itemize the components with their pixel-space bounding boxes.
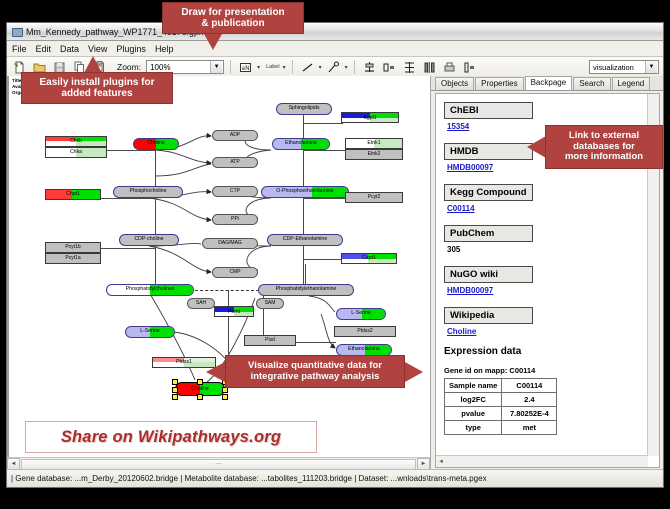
selection-handle-w[interactable]	[172, 387, 178, 393]
ope-up-half	[312, 187, 348, 197]
tab-objects[interactable]: Objects	[435, 77, 474, 90]
edge-sphingo-etn	[303, 115, 304, 138]
table-row: log2FC 2.4	[445, 393, 557, 407]
edge-choline-phosphocholine	[155, 150, 156, 186]
menu-item-file[interactable]: File	[12, 44, 27, 54]
callout-arrow-down-top	[204, 34, 222, 50]
line-icon[interactable]	[299, 59, 316, 76]
svg-text:aN: aN	[242, 64, 250, 71]
db-link-wikipedia[interactable]: Choline	[447, 327, 648, 336]
db-header-nugo: NuGO wiki	[444, 266, 533, 283]
metabolite-o-phosphoethanolamine[interactable]: O-Phosphoethanolamine	[261, 186, 349, 198]
cell-key-type: type	[445, 421, 502, 435]
cept1-lightgreen	[368, 259, 396, 263]
callout-draw-presentation: Draw for presentation & publication	[162, 2, 304, 34]
label-caret[interactable]: ▾	[283, 64, 286, 71]
etnk1-right-half	[374, 139, 402, 148]
visualization-value: visualization	[593, 63, 634, 72]
tab-backpage[interactable]: Backpage	[525, 76, 573, 90]
edge-pe-up	[305, 264, 306, 284]
gene-pcyt1a[interactable]: Pcyt1a	[45, 253, 101, 264]
callout-external-links: Link to external databases for more info…	[545, 125, 663, 169]
ethanolamine-right-up-half	[365, 345, 391, 355]
cell-key-log2fc: log2FC	[445, 393, 502, 407]
cell-key-pvalue: pvalue	[445, 407, 502, 421]
edge-pcyt2-branch	[303, 198, 347, 199]
pathway-canvas-area: Title: Availability: Organism:	[7, 76, 431, 470]
cofactor-atp[interactable]: ATP	[212, 157, 258, 168]
metabolite-choline-top[interactable]: Choline	[133, 138, 179, 150]
db-link-nugo[interactable]: HMDB00097	[447, 286, 648, 295]
edge-chk-branch	[107, 150, 155, 151]
share-text: Share on Wikipathways.org	[61, 428, 281, 447]
choline-selected-up-half	[200, 383, 224, 395]
lserine-left-up-half	[150, 327, 174, 337]
db-header-hmdb: HMDB	[444, 143, 533, 160]
gene-etnk1[interactable]: Etnk1	[345, 138, 403, 149]
table-row: type met	[445, 421, 557, 435]
cell-value-sample-name: C00114	[502, 379, 557, 393]
callout-arrow-up-plugins	[84, 56, 102, 73]
cofactor-ctp[interactable]: CTP	[212, 186, 258, 197]
menu-item-edit[interactable]: Edit	[36, 44, 52, 54]
cofactor-sah[interactable]: SAH	[187, 298, 215, 309]
cofactor-ppi[interactable]: PPi	[212, 214, 258, 225]
gene-sgpl1[interactable]: Sgpl1	[341, 112, 399, 123]
pemt-lightgreen	[234, 312, 253, 317]
callout-install-plugins: Easily install plugins for added feature…	[21, 72, 173, 104]
toolbar-separator-2	[292, 60, 293, 74]
selection-handle-se[interactable]	[222, 394, 228, 400]
gene-id-label: Gene id on mapp: C00114	[444, 366, 648, 375]
cell-value-type: met	[502, 421, 557, 435]
cofactor-adp[interactable]: ADP	[212, 130, 258, 141]
metabolite-phosphatidylethanolamine[interactable]: Phosphatidylethanolamine	[258, 284, 354, 296]
edge-ptdss2-branch	[294, 342, 336, 343]
panel-scroll-left-icon[interactable]: ◄	[436, 459, 444, 465]
db-header-chebi: ChEBI	[444, 102, 533, 119]
panel-horizontal-scrollbar[interactable]: ◄	[436, 455, 648, 467]
selection-handle-sw[interactable]	[172, 394, 178, 400]
edge-etnk-branch	[303, 150, 347, 151]
cell-value-pvalue: 7.80252E-4	[502, 407, 557, 421]
metabolite-sphingolipids[interactable]: Sphingolipids	[276, 103, 332, 115]
stack-icon[interactable]	[401, 59, 418, 76]
lserine-right-up-half	[362, 309, 385, 319]
cofactor-dag-mag[interactable]: DAG/MAG	[202, 238, 258, 249]
tab-properties[interactable]: Properties	[475, 77, 523, 90]
edge-pemt-stem	[228, 290, 229, 306]
screenshot-root: Mm_Kennedy_pathway_WP1771_45176.gpml Fil…	[0, 0, 670, 509]
zoom-value: 100%	[150, 63, 170, 72]
distribute-icon[interactable]	[421, 59, 438, 76]
edge-etn-pethn	[303, 150, 304, 186]
callout-share-wikipathways: Share on Wikipathways.org	[25, 421, 317, 453]
edge-phosphocholine-cdpcholine	[155, 198, 156, 234]
selection-handle-nw[interactable]	[172, 379, 178, 385]
callout-visualize-data: Visualize quantitative data for integrat…	[225, 355, 405, 388]
edge-pcyt1-branch	[101, 248, 155, 249]
app-icon	[11, 26, 22, 37]
edge-cdpcholine-pc	[155, 246, 156, 284]
db-header-kegg: Kegg Compound	[444, 184, 533, 201]
metabolite-l-serine-right[interactable]: L-Serine	[336, 308, 386, 320]
menu-item-view[interactable]: View	[88, 44, 107, 54]
side-panel-tabs: Objects Properties Backpage Search Legen…	[431, 76, 663, 91]
metabolite-cdp-ethanolamine[interactable]: CDP-Ethanolamine	[267, 234, 343, 246]
edge-chpt1-branch	[101, 198, 155, 199]
scroll-thumb[interactable]: ⋯	[21, 459, 416, 470]
gene-ptdss2[interactable]: Ptdss2	[334, 326, 396, 337]
sgpl1-blue	[342, 113, 370, 118]
ptdss1-lower-left	[153, 362, 184, 367]
chkb-lower-left	[46, 141, 76, 146]
cofactor-sam[interactable]: SAM	[256, 298, 284, 309]
gene-chpt1[interactable]: Chpt1	[45, 189, 101, 200]
gene-chkb[interactable]: Chkb	[45, 136, 107, 147]
callout-arrow-left-visualize	[206, 362, 225, 382]
metabolite-phosphatidylcholines[interactable]: Phosphatidylcholines	[106, 284, 194, 296]
selection-handle-n[interactable]	[197, 379, 203, 385]
edge-cdpethn-pe	[303, 246, 304, 284]
datanode-icon[interactable]: aN	[237, 59, 254, 76]
title-bar: Mm_Kennedy_pathway_WP1771_45176.gpml	[7, 23, 663, 41]
align-icon[interactable]	[361, 59, 378, 76]
ethanolamine-up-half	[301, 139, 329, 149]
metabolite-phosphocholine[interactable]: Phosphocholine	[113, 186, 183, 198]
db-header-pubchem: PubChem	[444, 225, 533, 242]
table-row: pvalue 7.80252E-4	[445, 407, 557, 421]
metabolite-ethanolamine-top[interactable]: Ethanolamine	[272, 138, 330, 150]
callout-arrow-right-visualize	[405, 362, 423, 382]
table-row: Sample name C00114	[445, 379, 557, 393]
chpt1-up-half	[72, 190, 100, 199]
toolbar-separator	[230, 60, 231, 74]
toolbar-separator-3	[354, 60, 355, 74]
choline-up-half	[156, 139, 178, 149]
callout-arrow-left-links	[527, 136, 546, 158]
db-value-pubchem: 305	[447, 245, 648, 254]
chevron-down-icon-vis[interactable]: ▼	[645, 61, 657, 73]
line-caret[interactable]: ▾	[319, 64, 322, 71]
pathway-canvas[interactable]: Title: Availability: Organism:	[7, 76, 430, 458]
status-bar: | Gene database: ...m_Derby_20120602.bri…	[7, 469, 663, 487]
expression-data-title: Expression data	[444, 346, 648, 357]
chevron-down-icon[interactable]: ▼	[210, 61, 222, 73]
edge-sgpl1-branch	[303, 123, 343, 124]
gene-etnk2[interactable]: Etnk2	[345, 149, 403, 160]
gene-pcyt1b[interactable]: Pcyt1b	[45, 242, 101, 253]
db-header-wikipedia: Wikipedia	[444, 307, 533, 324]
print-icon[interactable]	[441, 59, 458, 76]
cofactor-cmp[interactable]: CMP	[212, 267, 258, 278]
edge-pethn-cdpethn	[303, 198, 304, 234]
visualization-combobox[interactable]: visualization ▼	[589, 60, 659, 74]
gene-cept1[interactable]: Cept1	[341, 253, 397, 264]
interaction-caret[interactable]: ▾	[345, 64, 348, 71]
metabolite-l-serine-left[interactable]: L-Serine	[125, 326, 175, 338]
label-tool-label[interactable]: Label	[266, 64, 279, 70]
pc-up-half	[150, 285, 193, 295]
interaction-icon[interactable]	[325, 59, 342, 76]
edge-cept1-branch	[303, 259, 343, 260]
group-icon[interactable]	[381, 59, 398, 76]
gene-chka[interactable]: Chka	[45, 147, 107, 158]
menu-item-data[interactable]: Data	[60, 44, 79, 54]
expression-table: Sample name C00114 log2FC 2.4 pvalue 7.8…	[444, 378, 557, 435]
gene-pemt[interactable]: Pemt	[214, 306, 254, 317]
menu-item-help[interactable]: Help	[155, 44, 174, 54]
order-icon[interactable]	[461, 59, 478, 76]
menu-item-plugins[interactable]: Plugins	[116, 44, 146, 54]
metabolite-cdp-choline[interactable]: CDP-choline	[119, 234, 179, 246]
cell-value-log2fc: 2.4	[502, 393, 557, 407]
sgpl1-lightgreen	[370, 118, 398, 123]
gene-pisd[interactable]: Pisd	[244, 335, 296, 346]
pemt-blue	[215, 307, 234, 312]
zoom-label: Zoom:	[117, 62, 141, 72]
db-link-kegg[interactable]: C00114	[447, 204, 648, 213]
cell-key-sample-name: Sample name	[445, 379, 502, 393]
datanode-caret[interactable]: ▾	[257, 64, 260, 71]
cept1-blue	[342, 254, 368, 259]
gene-pcyt2[interactable]: Pcyt2	[345, 192, 403, 203]
tab-search[interactable]: Search	[573, 77, 610, 90]
chka-right-half	[76, 148, 106, 157]
selection-handle-s[interactable]	[197, 394, 203, 400]
tab-legend[interactable]: Legend	[612, 77, 651, 90]
chkb-lower-right	[76, 141, 106, 146]
menu-bar: File Edit Data View Plugins Help	[7, 41, 663, 57]
status-text: | Gene database: ...m_Derby_20120602.bri…	[11, 474, 487, 483]
